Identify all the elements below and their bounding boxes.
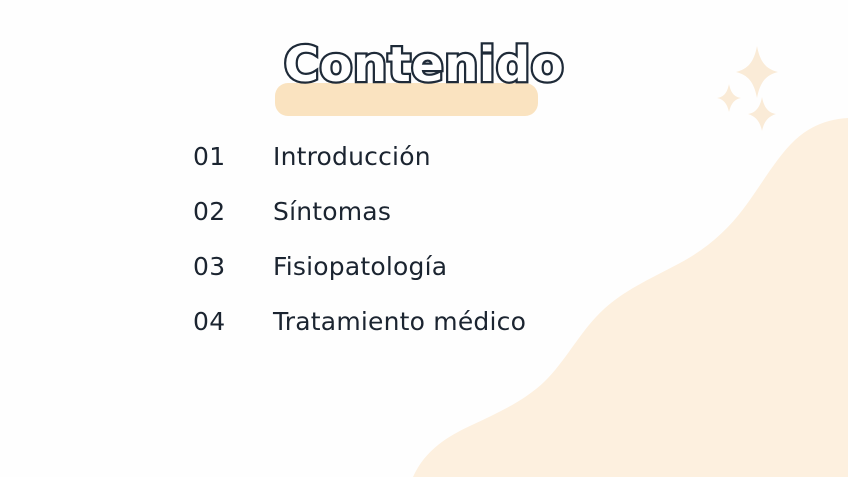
- page-title: Contenido: [284, 34, 564, 96]
- list-item-number: 04: [193, 307, 273, 336]
- list-item-number: 01: [193, 142, 273, 171]
- list-item[interactable]: 02 Síntomas: [193, 197, 713, 252]
- list-item[interactable]: 04 Tratamiento médico: [193, 307, 713, 362]
- contents-list: 01 Introducción 02 Síntomas 03 Fisiopato…: [193, 142, 713, 362]
- title-block: Contenido: [0, 34, 848, 124]
- page-title-wrapper: Contenido: [0, 34, 848, 96]
- list-item-number: 02: [193, 197, 273, 226]
- slide-canvas: Contenido 01 Introducción 02 Síntomas 03…: [0, 0, 848, 477]
- list-item-number: 03: [193, 252, 273, 281]
- list-item-label: Tratamiento médico: [273, 307, 526, 336]
- list-item-label: Introducción: [273, 142, 431, 171]
- list-item[interactable]: 03 Fisiopatología: [193, 252, 713, 307]
- list-item[interactable]: 01 Introducción: [193, 142, 713, 197]
- list-item-label: Fisiopatología: [273, 252, 447, 281]
- list-item-label: Síntomas: [273, 197, 391, 226]
